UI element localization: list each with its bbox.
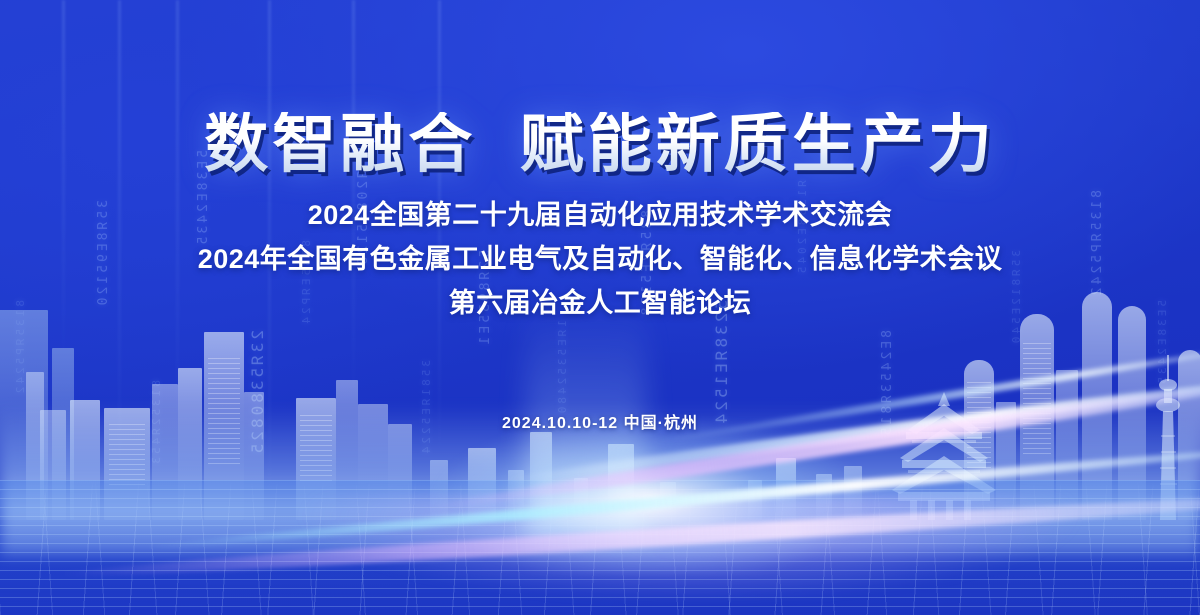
banner-content: 数智融合 赋能新质生产力 2024全国第二十九届自动化应用技术学术交流会 202… bbox=[0, 0, 1200, 615]
conference-name-1: 2024全国第二十九届自动化应用技术学术交流会 bbox=[308, 202, 893, 229]
conference-banner: 8135ЯP5242 35Я8E95120 81352Я453 5E38E243… bbox=[0, 0, 1200, 615]
conference-name-3: 第六届冶金人工智能论坛 bbox=[449, 290, 752, 317]
banner-headline: 数智融合 赋能新质生产力 bbox=[204, 112, 996, 176]
date-location: 2024.10.10-12 中国·杭州 bbox=[502, 409, 698, 433]
conference-name-2: 2024年全国有色金属工业电气及自动化、智能化、信息化学术会议 bbox=[198, 246, 1003, 273]
